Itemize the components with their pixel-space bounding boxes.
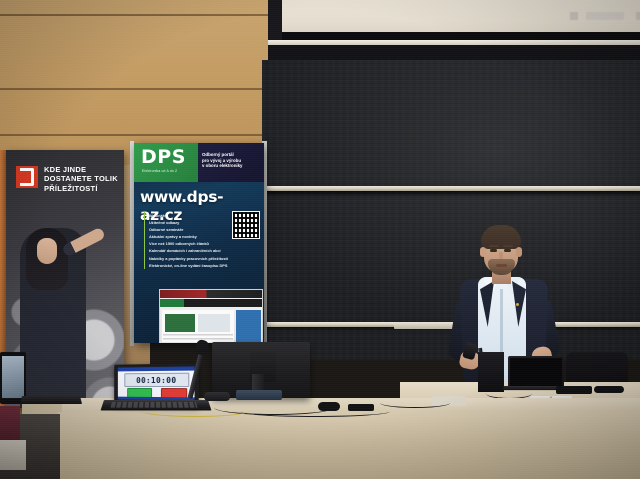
list-item: Odborné semináře: [144, 226, 230, 233]
cez-logo: [16, 166, 38, 188]
dps-website-screenshot: [159, 289, 263, 343]
keyboard[interactable]: [20, 396, 82, 404]
presenter-eye-left: [490, 249, 497, 252]
list-item: Aktuální zprávy a novinky: [144, 233, 230, 240]
cez-headline-line-3: PŘÍLEŽITOSTÍ: [44, 184, 120, 193]
monitor-right: [478, 352, 504, 392]
presenter-ear-left: [480, 247, 486, 257]
desk-front-panel: [58, 412, 640, 479]
cable-center-2: [240, 406, 390, 417]
presenter-lapel-pin: [516, 303, 519, 306]
projection-screen: [280, 0, 640, 32]
floor-object-white: [0, 440, 26, 470]
presenter-mouth: [496, 264, 507, 267]
laptop-right: [508, 356, 564, 390]
blackboard-rail-shadow: [262, 191, 640, 198]
floor-object-red: [0, 406, 20, 442]
timer-laptop-screen: 00:10:00: [118, 366, 195, 400]
cez-headline-line-2: DOSTANETE TOLIK: [44, 174, 120, 183]
dps-tagline: Odborný portál pro vývoj a výrobu v obor…: [202, 152, 262, 169]
microphone-head: [194, 339, 209, 356]
list-item: Webináře: [144, 212, 230, 219]
dps-tagline-line-3: v oboru elektroniky: [202, 163, 262, 169]
list-item: Užitečné odkazy: [144, 219, 230, 226]
cez-banner-headline: KDE JINDE DOSTANETE TOLIK PŘÍLEŽITOSTÍ: [44, 165, 120, 193]
list-item: Nabídky a poptávky pracovních příležitos…: [144, 255, 230, 262]
dps-logo-text: DPS: [141, 148, 186, 167]
dps-rollup-banner: DPS Elektronika od A do Z Odborný portál…: [134, 143, 264, 343]
presenter-eyebrow-left: [489, 245, 499, 247]
dps-logo-subtitle: Elektronika od A do Z: [142, 169, 177, 173]
list-item: Elektronické, on-line vydání časopisu DP…: [144, 262, 230, 269]
microphone-base: [204, 392, 230, 401]
cez-banner-person-face: [37, 238, 57, 264]
qr-code-icon: [232, 211, 260, 239]
timer-display: 00:10:00: [124, 373, 189, 387]
presenter-hair: [481, 225, 521, 249]
monitor-center-base: [236, 390, 282, 400]
timer-value: 00:10:00: [136, 375, 176, 384]
dps-bullet-list: Webináře Užitečné odkazy Odborné seminář…: [144, 212, 230, 269]
list-item: Kalendář domácích i zahraničních akcí: [144, 247, 230, 254]
power-adapter: [556, 386, 592, 394]
presenter-eye-right: [504, 249, 511, 252]
cable-yellow: [140, 404, 250, 417]
monitor-left-screen: [2, 356, 24, 398]
list-item: Více než 1500 odborných článků: [144, 240, 230, 247]
projected-taskbar: [564, 12, 640, 20]
cez-headline-line-1: KDE JINDE: [44, 165, 120, 174]
laptop-right-screen: [510, 358, 562, 386]
lecture-hall-photo: KDE JINDE DOSTANETE TOLIK PŘÍLEŽITOSTÍ D…: [0, 0, 640, 479]
cable-coil: [594, 386, 624, 393]
timer-app-titlebar: [118, 366, 195, 371]
presenter-eyebrow-right: [503, 245, 513, 247]
cable-center-3: [380, 398, 450, 408]
presenter-ear-right: [516, 247, 522, 257]
